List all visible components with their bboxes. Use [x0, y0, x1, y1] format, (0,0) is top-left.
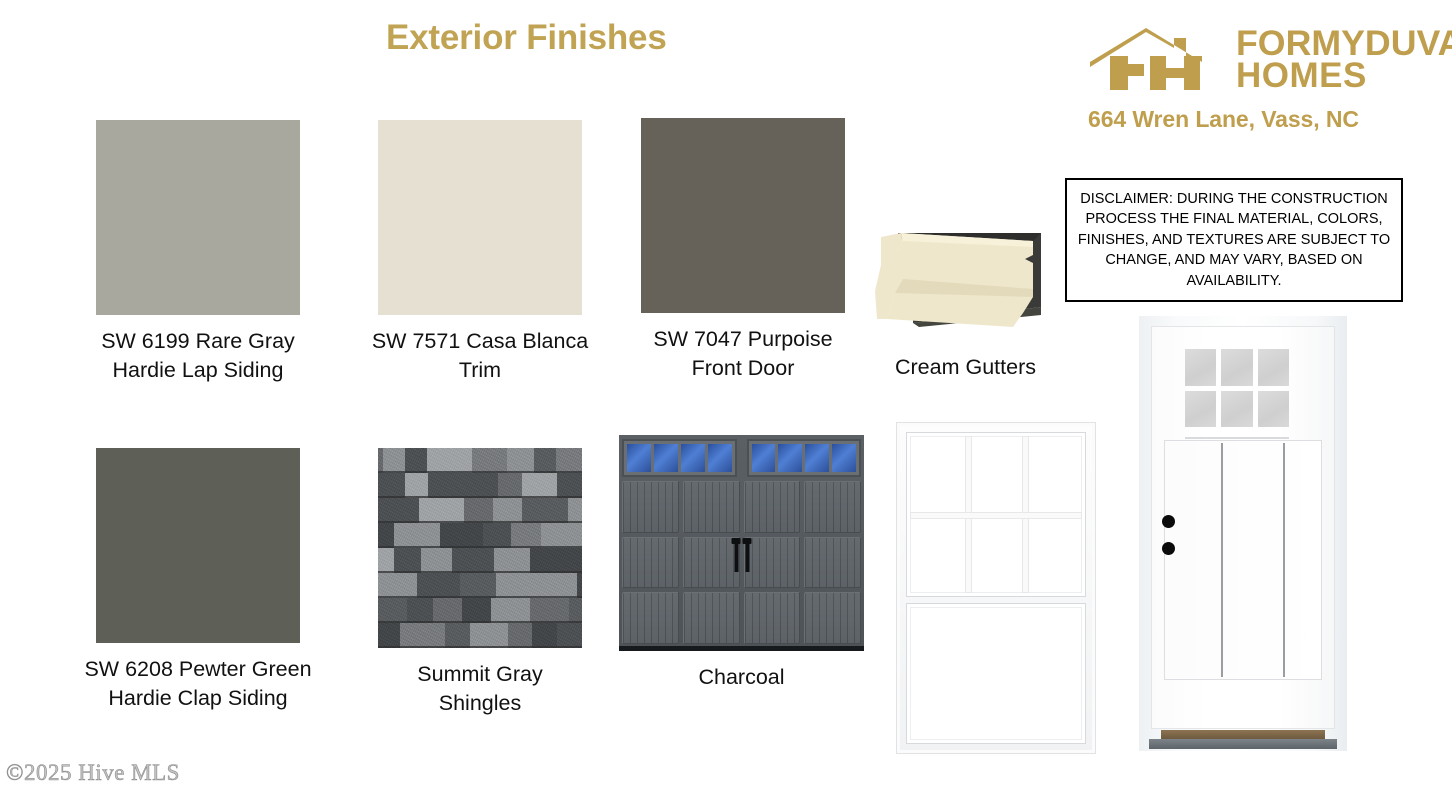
shingle-tab — [464, 498, 493, 523]
shingle-course-line — [378, 496, 582, 498]
shingle-tab — [470, 623, 508, 648]
garage-panel — [744, 481, 801, 533]
garage-panel — [683, 537, 740, 589]
shingle-tab — [568, 498, 582, 523]
shingle-course-line — [378, 646, 582, 648]
shingle-tab — [417, 573, 460, 598]
shingle-tab — [419, 498, 464, 523]
garage-handle-icon — [745, 538, 749, 572]
finish-caption-casa-blanca: SW 7571 Casa Blanca Trim — [365, 327, 595, 384]
finish-label-line1: Cream Gutters — [895, 355, 1036, 379]
shingle-course-line — [378, 571, 582, 573]
finish-label-line2: Trim — [365, 356, 595, 385]
door-lite-grid — [1185, 349, 1289, 427]
garage-panel — [744, 592, 801, 644]
shingle-course — [378, 498, 582, 523]
shingle-tab — [378, 498, 419, 523]
garage-panel-row — [622, 481, 861, 533]
garage-door-handles — [734, 538, 749, 572]
door-lite — [1221, 391, 1252, 428]
garage-lite — [752, 444, 776, 472]
finish-caption-summit-gray: Summit Gray Shingles — [378, 660, 582, 717]
shingle-tab — [378, 573, 388, 598]
finish-label-line2: Front Door — [628, 354, 858, 383]
finish-label-line1: Charcoal — [619, 663, 864, 692]
shingle-tab — [383, 448, 405, 473]
finish-item-purpoise[interactable]: SW 7047 Purpoise Front Door — [641, 118, 858, 382]
garage-handle-icon — [734, 538, 738, 572]
shingle-tab — [557, 623, 582, 648]
finish-label-line1: SW 6199 Rare Gray — [83, 327, 313, 356]
garage-window-group-left — [622, 439, 737, 477]
window-grid-mullion-horizontal — [911, 513, 1081, 518]
shingle-tab — [494, 548, 530, 573]
color-swatch-rare-gray — [96, 120, 300, 315]
door-jamb — [1139, 316, 1347, 751]
shingle-tab — [378, 523, 394, 548]
finish-caption-charcoal: Charcoal — [619, 663, 864, 692]
shingle-tab — [378, 548, 394, 573]
brand-wordmark: FORMYDUVAL HOMES — [1236, 26, 1452, 92]
finish-label-line2: Shingles — [378, 689, 582, 718]
shingle-tab — [405, 448, 427, 473]
finish-item-charcoal-garage-door[interactable]: Charcoal — [619, 435, 864, 692]
color-swatch-purpoise — [641, 118, 845, 313]
garage-window-row — [622, 439, 861, 477]
garage-lite — [832, 444, 856, 472]
door-lower-panel-area — [1164, 440, 1322, 680]
shingle-tab — [493, 498, 522, 523]
shingle-tab — [511, 523, 541, 548]
shingle-tab — [533, 573, 577, 598]
garage-panel — [683, 481, 740, 533]
shingle-tab — [496, 573, 533, 598]
shingle-tab — [378, 473, 405, 498]
garage-window-group-right — [747, 439, 862, 477]
shingle-tab — [421, 548, 452, 573]
shingle-tab — [577, 573, 582, 598]
shingle-tab — [498, 473, 522, 498]
brand-address: 664 Wren Lane, Vass, NC — [1088, 106, 1418, 133]
shingle-tab — [557, 473, 582, 498]
finish-label-line2: Hardie Lap Siding — [83, 356, 313, 385]
shingle-tab — [462, 598, 491, 623]
shingle-course — [378, 623, 582, 648]
shingle-tab — [508, 623, 532, 648]
door-sill — [1149, 739, 1337, 749]
shingle-tab — [483, 523, 511, 548]
disclaimer-text: DISCLAIMER: DURING THE CONSTRUCTION PROC… — [1073, 189, 1395, 292]
shingle-tab — [556, 448, 582, 473]
window-sashes — [906, 432, 1086, 744]
garage-lite — [654, 444, 678, 472]
product-image-double-hung-window[interactable] — [896, 422, 1096, 754]
finish-item-summit-gray[interactable]: Summit Gray Shingles — [378, 448, 582, 717]
garage-panel — [804, 537, 861, 589]
shingle-tab — [507, 448, 534, 473]
garage-panel — [804, 592, 861, 644]
shingle-tab — [579, 523, 582, 548]
window-bottom-sash — [906, 603, 1086, 744]
garage-lite — [805, 444, 829, 472]
garage-lite — [778, 444, 802, 472]
shingle-course-line — [378, 471, 582, 473]
page-title: Exterior Finishes — [386, 18, 667, 58]
shingle-tab — [522, 473, 557, 498]
finish-label-line1: SW 7047 Purpoise — [628, 325, 858, 354]
door-threshold — [1161, 730, 1325, 739]
shingle-tab — [405, 473, 428, 498]
door-knob-icon[interactable] — [1162, 515, 1175, 528]
garage-lite — [681, 444, 705, 472]
shingle-tab — [522, 498, 568, 523]
garage-lite — [708, 444, 732, 472]
window-frame — [896, 422, 1096, 754]
product-image-garage-door — [619, 435, 864, 651]
finish-label-line1: Summit Gray — [378, 660, 582, 689]
shingle-tab — [491, 598, 530, 623]
shingle-tab — [378, 598, 407, 623]
shingle-tab — [532, 623, 557, 648]
shingle-course-line — [378, 521, 582, 523]
finish-label-line1: SW 7571 Casa Blanca — [365, 327, 595, 356]
shingle-tab — [452, 548, 494, 573]
shingle-tab — [445, 623, 470, 648]
garage-panel — [804, 481, 861, 533]
finish-caption-pewter-green: SW 6208 Pewter Green Hardie Clap Siding — [83, 655, 313, 712]
shingle-course — [378, 523, 582, 548]
door-slab — [1151, 326, 1335, 729]
shingle-tab — [541, 523, 579, 548]
door-center-stile-left — [1221, 443, 1223, 677]
finish-caption-purpoise: SW 7047 Purpoise Front Door — [628, 325, 858, 382]
door-lite — [1185, 349, 1216, 386]
shingle-tab — [454, 473, 498, 498]
shingle-tab — [472, 448, 507, 473]
garage-panel-row — [622, 592, 861, 644]
shingle-tab — [394, 548, 421, 573]
shingle-course — [378, 473, 582, 498]
garage-panel — [622, 537, 679, 589]
window-top-sash — [906, 432, 1086, 597]
finish-label-line1: SW 6208 Pewter Green — [83, 655, 313, 684]
shingle-tab — [407, 598, 433, 623]
finish-item-rare-gray[interactable]: SW 6199 Rare Gray Hardie Lap Siding — [96, 120, 313, 384]
brand-name-line2: HOMES — [1236, 60, 1452, 92]
shingle-tab — [433, 598, 462, 623]
watermark: ©2025 Hive MLS — [6, 760, 180, 786]
finish-caption-rare-gray: SW 6199 Rare Gray Hardie Lap Siding — [83, 327, 313, 384]
shingle-course — [378, 448, 582, 473]
shingle-tab — [400, 623, 445, 648]
shingle-tab — [427, 448, 472, 473]
brand-logo-block: FORMYDUVAL HOMES 664 Wren Lane, Vass, NC — [1088, 26, 1418, 133]
door-lite — [1185, 391, 1216, 428]
shingle-tab — [568, 548, 582, 573]
door-lite — [1221, 349, 1252, 386]
shingle-tab — [460, 573, 496, 598]
shingle-course — [378, 573, 582, 598]
door-top-rail — [1185, 437, 1289, 439]
door-lite — [1258, 349, 1289, 386]
finish-label-line2: Hardie Clap Siding — [83, 684, 313, 713]
shingle-tab — [378, 623, 400, 648]
fh-house-logo-icon — [1088, 26, 1222, 92]
garage-panel — [683, 592, 740, 644]
garage-panel — [622, 592, 679, 644]
finish-caption-cream-gutters: Cream Gutters — [873, 355, 1058, 380]
disclaimer-box: DISCLAIMER: DURING THE CONSTRUCTION PROC… — [1065, 178, 1403, 302]
exterior-finishes-board: Exterior Finishes FORMYDUVAL HOMES 664 W… — [0, 0, 1452, 810]
shingle-course-line — [378, 546, 582, 548]
shingle-tab — [388, 573, 417, 598]
shingle-tab — [530, 598, 569, 623]
garage-lite — [627, 444, 651, 472]
color-swatch-pewter-green — [96, 448, 300, 643]
shingle-tab — [569, 598, 582, 623]
color-swatch-casa-blanca — [378, 120, 582, 315]
garage-panel — [622, 481, 679, 533]
shingle-course — [378, 548, 582, 573]
finish-item-casa-blanca[interactable]: SW 7571 Casa Blanca Trim — [378, 120, 595, 384]
shingle-tab — [440, 523, 483, 548]
product-image-craftsman-front-door[interactable] — [1139, 316, 1347, 751]
shingle-tab — [394, 523, 440, 548]
shingle-course-line — [378, 596, 582, 598]
shingle-tab — [428, 473, 454, 498]
door-lite — [1258, 391, 1289, 428]
shingle-tab — [530, 548, 568, 573]
shingle-course-line — [378, 621, 582, 623]
product-image-cream-gutter[interactable] — [873, 215, 1048, 327]
shingle-course — [378, 598, 582, 623]
texture-swatch-summit-gray-shingles — [378, 448, 582, 648]
finish-item-pewter-green[interactable]: SW 6208 Pewter Green Hardie Clap Siding — [96, 448, 313, 712]
shingle-tab — [534, 448, 556, 473]
door-center-stile-right — [1283, 443, 1285, 677]
brand-name-line1: FORMYDUVAL — [1236, 28, 1452, 60]
garage-panel — [744, 537, 801, 589]
door-deadbolt-icon[interactable] — [1162, 542, 1175, 555]
